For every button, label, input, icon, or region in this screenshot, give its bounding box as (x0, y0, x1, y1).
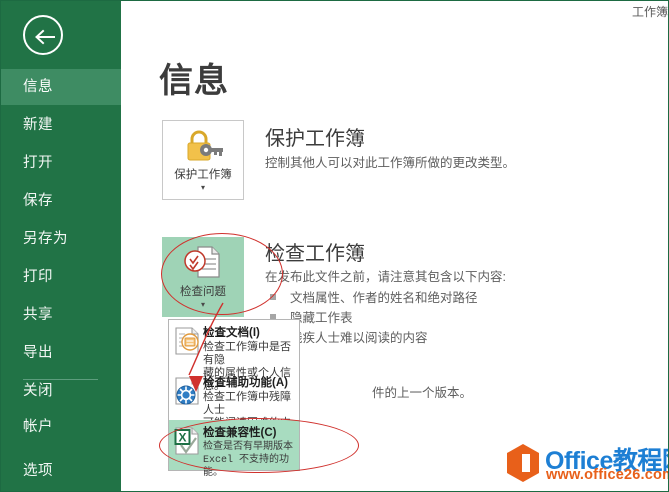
padlock-key-glyph (180, 129, 226, 163)
inspect-workbook-heading: 检查工作簿 (265, 237, 365, 266)
sidebar-divider (23, 379, 98, 380)
sidebar-item-share[interactable]: 共享 (1, 297, 121, 333)
chevron-down-icon: ▾ (163, 302, 243, 308)
menu-item-check-compatibility[interactable]: X 检查兼容性(C) 检查是否有早期版本 Excel 不支持的功能。 (169, 420, 299, 470)
bullet-square-icon (270, 294, 276, 300)
compatibility-excel-glyph: X (173, 426, 201, 456)
sidebar-item-account[interactable]: 帐户 (1, 409, 121, 445)
protect-workbook-heading: 保护工作簿 (265, 122, 365, 151)
sidebar-item-save[interactable]: 保存 (1, 183, 121, 219)
sidebar-label: 打印 (23, 269, 53, 285)
inspect-issues-label: 检查问题 (163, 283, 243, 299)
document-check-icon (163, 245, 243, 279)
sidebar-label: 信息 (23, 79, 53, 95)
sidebar-label: 另存为 (23, 231, 68, 247)
sidebar-label: 打开 (23, 155, 53, 171)
versions-obscured-text: 件的上一个版本。 (372, 382, 472, 401)
backstage-main-pane: 工作簿 信息 保护工作簿 ▾ 保护工作簿 控制其他人可以对此工作簿所做的更改类型… (122, 1, 669, 492)
bullet-text: 残疾人士难以阅读的内容 (290, 331, 428, 345)
sidebar-item-print[interactable]: 打印 (1, 259, 121, 295)
document-check-glyph (182, 245, 224, 279)
sidebar-item-options[interactable]: 选项 (1, 453, 121, 489)
sidebar-label: 导出 (23, 345, 53, 361)
backstage-sidebar: 信息 新建 打开 保存 另存为 打印 共享 导出 关闭 帐户 选项 (1, 1, 121, 492)
page-title: 信息 (159, 53, 229, 102)
protect-workbook-label: 保护工作簿 (163, 166, 243, 182)
compatibility-excel-icon: X (173, 426, 201, 456)
inspect-document-glyph (173, 326, 201, 356)
svg-text:X: X (178, 431, 186, 445)
sidebar-item-export[interactable]: 导出 (1, 335, 121, 371)
sidebar-label: 新建 (23, 117, 53, 133)
watermark-site-url: www.office26.com (546, 467, 669, 483)
menu-item-title: 检查兼容性(C) (203, 424, 295, 440)
inspect-workbook-description: 在发布此文件之前，请注意其包含以下内容: (265, 266, 506, 285)
menu-item-inspect-document[interactable]: 检查文档(I) 检查工作簿中是否有隐 藏的属性或个人信息。 (169, 320, 299, 370)
bullet-text: 文档属性、作者的姓名和绝对路径 (290, 291, 478, 305)
menu-item-title: 检查辅助功能(A) (203, 374, 295, 390)
sidebar-label: 保存 (23, 193, 53, 209)
sidebar-label: 共享 (23, 307, 53, 323)
red-arrow-cursor (187, 374, 205, 396)
sidebar-item-new[interactable]: 新建 (1, 107, 121, 143)
chevron-down-icon: ▾ (163, 185, 243, 191)
back-arrow-glyph (32, 24, 58, 50)
protect-workbook-description: 控制其他人可以对此工作簿所做的更改类型。 (265, 152, 515, 171)
document-title: 工作簿 (632, 3, 668, 20)
sidebar-label: 关闭 (23, 383, 53, 399)
inspect-document-icon (173, 326, 201, 356)
inspect-issues-button[interactable]: 检查问题 ▾ (162, 237, 244, 317)
protect-workbook-button[interactable]: 保护工作簿 ▾ (162, 120, 244, 200)
excel-backstage-window: 信息 新建 打开 保存 另存为 打印 共享 导出 关闭 帐户 选项 工作簿 信息 (0, 0, 669, 492)
back-arrow-icon[interactable] (23, 15, 63, 55)
sidebar-item-info[interactable]: 信息 (1, 69, 121, 105)
sidebar-label: 选项 (23, 463, 53, 479)
sidebar-label: 帐户 (23, 419, 53, 435)
menu-item-title: 检查文档(I) (203, 324, 295, 340)
inspect-bullet-1: 文档属性、作者的姓名和绝对路径 (270, 287, 478, 306)
menu-item-description: 检查是否有早期版本 Excel 不支持的功能。 (203, 441, 295, 480)
office-hexagon-logo (505, 443, 541, 483)
sidebar-item-open[interactable]: 打开 (1, 145, 121, 181)
sidebar-item-save-as[interactable]: 另存为 (1, 221, 121, 257)
padlock-key-icon (163, 128, 243, 162)
